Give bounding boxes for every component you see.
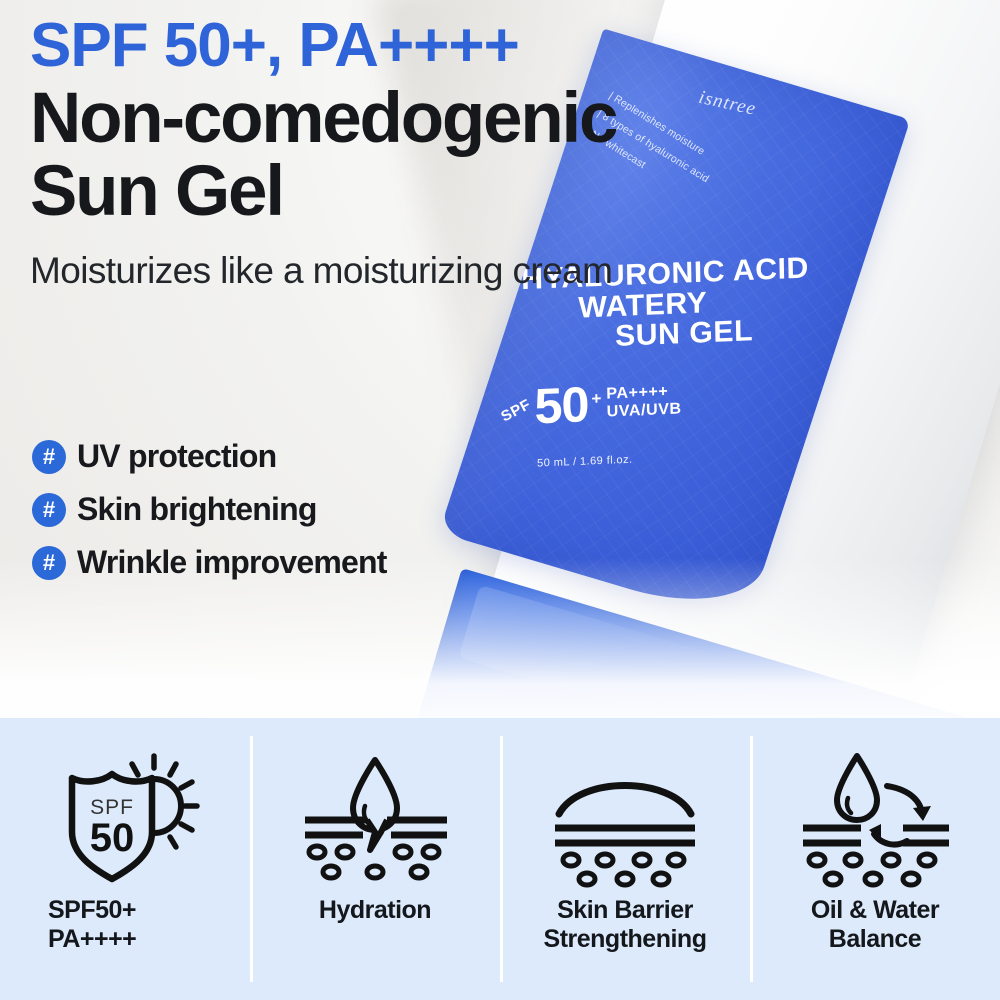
headline-spf-line: SPF 50+, PA++++ xyxy=(30,14,830,77)
feature-label-line2: Strengthening xyxy=(544,925,707,954)
feature-cell-hydration: Hydration xyxy=(250,718,500,1000)
feature-band: SPF 50 SPF50+ PA++++ xyxy=(0,718,1000,1000)
list-item: # UV protection xyxy=(32,438,387,475)
shield-spf-value: 50 xyxy=(90,816,135,860)
feature-label-line1: Hydration xyxy=(319,896,431,925)
feature-label-line2: PA++++ xyxy=(48,925,136,954)
list-item: # Skin brightening xyxy=(32,491,387,528)
headline-subtitle: Moisturizes like a moisturizing cream xyxy=(30,250,830,292)
spf-shield-sun-icon: SPF 50 xyxy=(50,744,200,892)
hash-icon: # xyxy=(32,493,66,527)
label-spf-block: SPF 50 + PA++++ UVA/UVB xyxy=(500,375,793,430)
hash-icon: # xyxy=(32,440,66,474)
feature-cell-spf: SPF 50 SPF50+ PA++++ xyxy=(0,718,250,1000)
feature-label-line1: SPF50+ xyxy=(48,896,136,925)
headline-main-line2: Sun Gel xyxy=(30,156,830,228)
label-uv-range: UVA/UVB xyxy=(607,401,682,422)
headline-main: Non-comedogenic Sun Gel xyxy=(30,83,830,228)
label-spf-prefix: SPF xyxy=(498,396,533,425)
headline-main-line1: Non-comedogenic xyxy=(30,79,616,158)
label-title-line3: SUN GEL xyxy=(615,314,825,353)
list-item: # Wrinkle improvement xyxy=(32,544,387,581)
feature-label-line1: Skin Barrier xyxy=(544,896,707,925)
bullet-label: Wrinkle improvement xyxy=(77,544,387,581)
bullet-label: Skin brightening xyxy=(77,491,317,528)
skin-barrier-dome-icon xyxy=(545,744,705,892)
hash-icon: # xyxy=(32,546,66,580)
feature-label-balance: Oil & Water Balance xyxy=(811,896,939,954)
label-spf-plus: + xyxy=(591,389,601,409)
feature-cell-balance: Oil & Water Balance xyxy=(750,718,1000,1000)
feature-label-line2: Balance xyxy=(811,925,939,954)
label-volume: 50 mL / 1.69 fl.oz. xyxy=(537,448,769,469)
bullet-label: UV protection xyxy=(77,438,276,475)
droplet-into-skin-icon xyxy=(295,744,455,892)
feature-cell-barrier: Skin Barrier Strengthening xyxy=(500,718,750,1000)
benefit-bullet-list: # UV protection # Skin brightening # Wri… xyxy=(32,438,387,597)
feature-label-hydration: Hydration xyxy=(319,896,431,925)
feature-label-line1: Oil & Water xyxy=(811,896,939,925)
feature-label-spf: SPF50+ PA++++ xyxy=(48,896,136,954)
label-spf-value: 50 xyxy=(534,384,589,429)
feature-label-barrier: Skin Barrier Strengthening xyxy=(544,896,707,954)
headline-block: SPF 50+, PA++++ Non-comedogenic Sun Gel … xyxy=(30,14,830,292)
oil-water-balance-icon xyxy=(795,744,955,892)
